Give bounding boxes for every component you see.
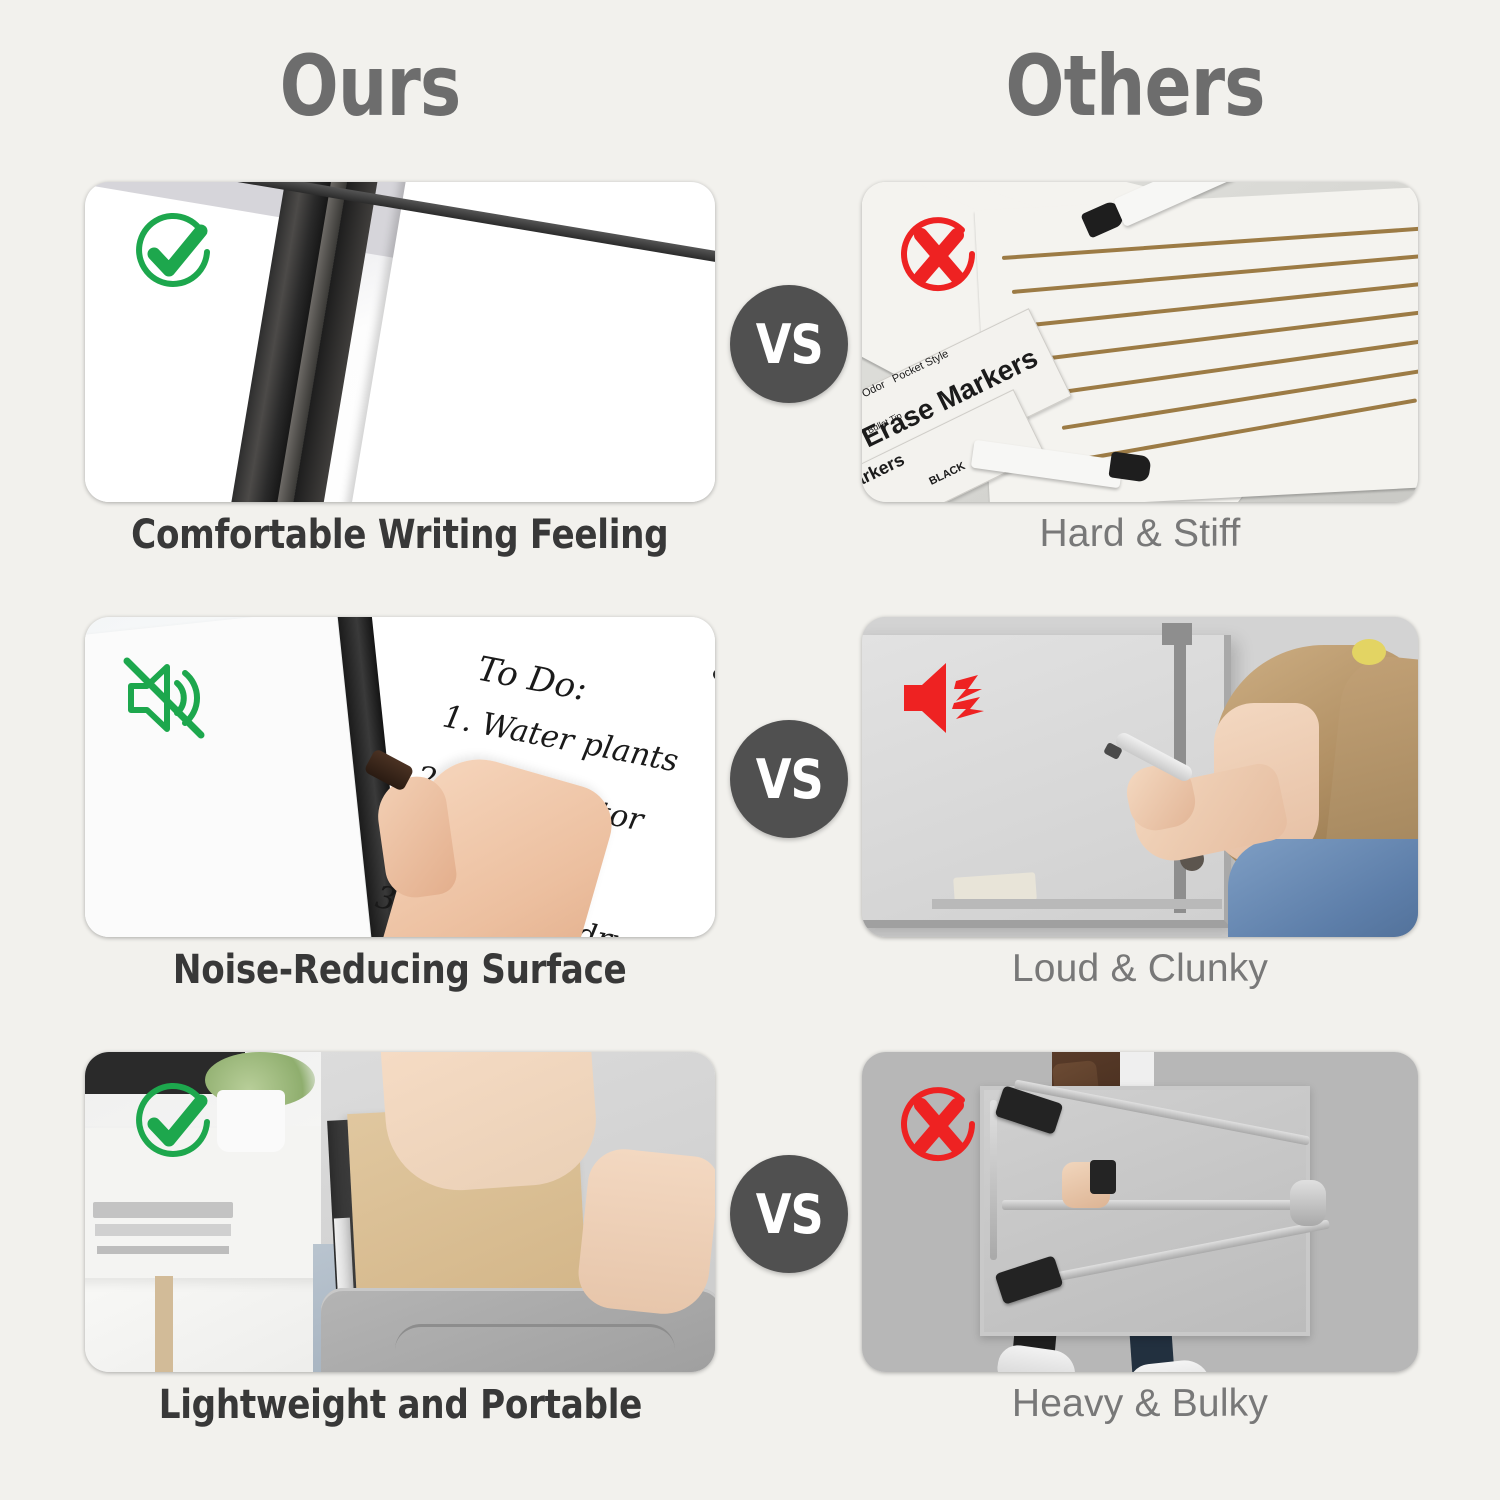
ours-card-2: To Do: 1. Water plants 2. Book doctor ap…	[85, 617, 715, 937]
vs-label: VS	[755, 1183, 822, 1246]
others-card-1: Odor Pocket Style Erase Markers Bullet T…	[862, 182, 1418, 502]
ours-caption-text-1: Comfortable Writing Feeling	[131, 512, 668, 558]
red-x-circle-icon	[890, 1078, 986, 1179]
comparison-row-2: To Do: 1. Water plants 2. Book doctor ap…	[0, 595, 1500, 1025]
green-muted-speaker-icon	[117, 655, 209, 746]
green-check-circle-icon	[125, 204, 221, 305]
vs-label: VS	[755, 748, 822, 811]
others-caption-text-1: Hard & Stiff	[1039, 512, 1240, 555]
green-check-circle-icon	[125, 1074, 221, 1175]
vs-badge-2: VS	[730, 720, 848, 838]
red-x-circle-icon	[890, 208, 986, 309]
others-caption-2: Loud & Clunky	[862, 947, 1418, 991]
column-headings: Ours Others	[0, 34, 1500, 144]
vs-badge-3: VS	[730, 1155, 848, 1273]
comparison-infographic: Ours Others VS	[0, 0, 1500, 1500]
ours-caption-1: Comfortable Writing Feeling	[85, 512, 715, 558]
others-caption-text-2: Loud & Clunky	[1012, 947, 1268, 990]
ours-card-3	[85, 1052, 715, 1372]
others-card-2	[862, 617, 1418, 937]
ours-caption-2: Noise-Reducing Surface	[85, 947, 715, 993]
others-caption-3: Heavy & Bulky	[862, 1382, 1418, 1426]
red-loud-speaker-icon	[898, 659, 990, 742]
others-caption-text-3: Heavy & Bulky	[1012, 1382, 1268, 1425]
vs-badge-1: VS	[730, 285, 848, 403]
vs-label: VS	[755, 313, 822, 376]
ours-caption-text-3: Lightweight and Portable	[158, 1382, 641, 1428]
heading-others: Others	[933, 34, 1338, 138]
ours-card-1	[85, 182, 715, 502]
heading-ours: Ours	[186, 34, 554, 138]
comparison-row-3: VS	[0, 1030, 1500, 1460]
comparison-row-1: VS Odor Pocket Style	[0, 160, 1500, 590]
others-card-3	[862, 1052, 1418, 1372]
ours-caption-3: Lightweight and Portable	[85, 1382, 715, 1428]
ours-caption-text-2: Noise-Reducing Surface	[173, 947, 627, 993]
others-caption-1: Hard & Stiff	[862, 512, 1418, 556]
